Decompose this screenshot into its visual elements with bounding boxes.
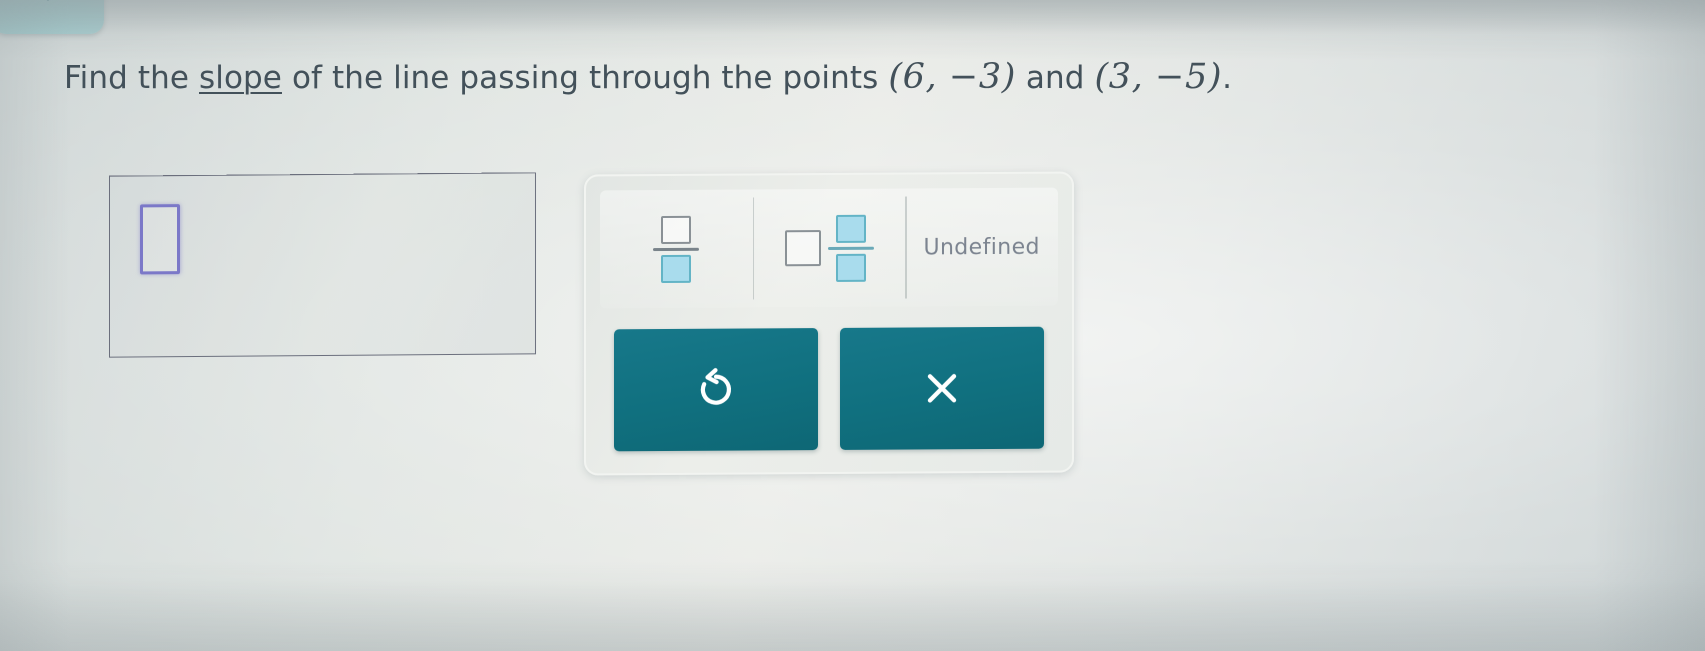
- answer-entry-box[interactable]: [109, 172, 536, 357]
- keypad-bottom-row: [614, 327, 1044, 452]
- question-suffix: .: [1222, 60, 1232, 96]
- answer-input-slot[interactable]: [140, 204, 180, 274]
- undo-button[interactable]: [614, 328, 818, 451]
- keypad-button-mixed-number[interactable]: [753, 189, 906, 308]
- mixed-numerator-box: [836, 214, 866, 242]
- undo-icon: [688, 362, 744, 418]
- chevron-down-icon: [33, 0, 63, 9]
- keypad-top-row: Undefined: [600, 188, 1058, 309]
- fraction-bar: [653, 247, 699, 250]
- fraction-denominator-box: [661, 254, 691, 282]
- mixed-number-icon: [785, 214, 874, 282]
- mixed-denominator-box: [836, 253, 866, 281]
- mixed-whole-box: [785, 230, 821, 266]
- point-two: (3, −5): [1094, 57, 1222, 97]
- top-tab[interactable]: [0, 0, 104, 34]
- mixed-fraction-group: [828, 214, 874, 281]
- question-conjunction: and: [1016, 60, 1095, 96]
- mixed-fraction-bar: [828, 246, 874, 249]
- fraction-numerator-box: [661, 215, 691, 243]
- question-middle: of the line passing through the points: [282, 60, 888, 96]
- question-text: Find the slope of the line passing throu…: [64, 56, 1544, 99]
- question-prefix: Find the: [64, 60, 199, 96]
- fraction-icon: [653, 215, 699, 282]
- math-keypad-panel: Undefined: [584, 172, 1074, 476]
- keypad-button-undefined[interactable]: Undefined: [905, 188, 1058, 307]
- slope-link[interactable]: slope: [199, 60, 282, 96]
- clear-button[interactable]: [840, 327, 1044, 450]
- keypad-button-fraction[interactable]: [600, 189, 753, 308]
- undefined-label: Undefined: [923, 234, 1039, 260]
- close-icon: [914, 360, 970, 416]
- point-one: (6, −3): [888, 57, 1016, 97]
